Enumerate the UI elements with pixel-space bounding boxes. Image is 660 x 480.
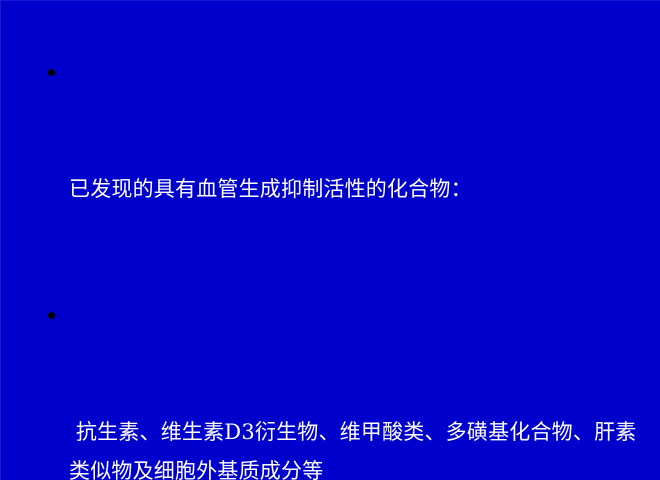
- list-item: 抗生素、维生素D3衍生物、维甲酸类、多磺基化合物、肝素类似物及细胞外基质成分等: [41, 296, 641, 480]
- round-bullet-icon: [48, 69, 55, 76]
- bullet-text-compounds-heading: 已发现的具有血管生成抑制活性的化合物：: [69, 170, 641, 209]
- bullet-text-compounds-list: 抗生素、维生素D3衍生物、维甲酸类、多磺基化合物、肝素类似物及细胞外基质成分等: [69, 413, 641, 480]
- round-bullet-icon: [48, 312, 55, 319]
- list-item: 已发现的具有血管生成抑制活性的化合物：: [41, 53, 641, 287]
- slide-canvas: 已发现的具有血管生成抑制活性的化合物： 抗生素、维生素D3衍生物、维甲酸类、多磺…: [0, 0, 660, 480]
- bullet-list: 已发现的具有血管生成抑制活性的化合物： 抗生素、维生素D3衍生物、维甲酸类、多磺…: [41, 53, 641, 480]
